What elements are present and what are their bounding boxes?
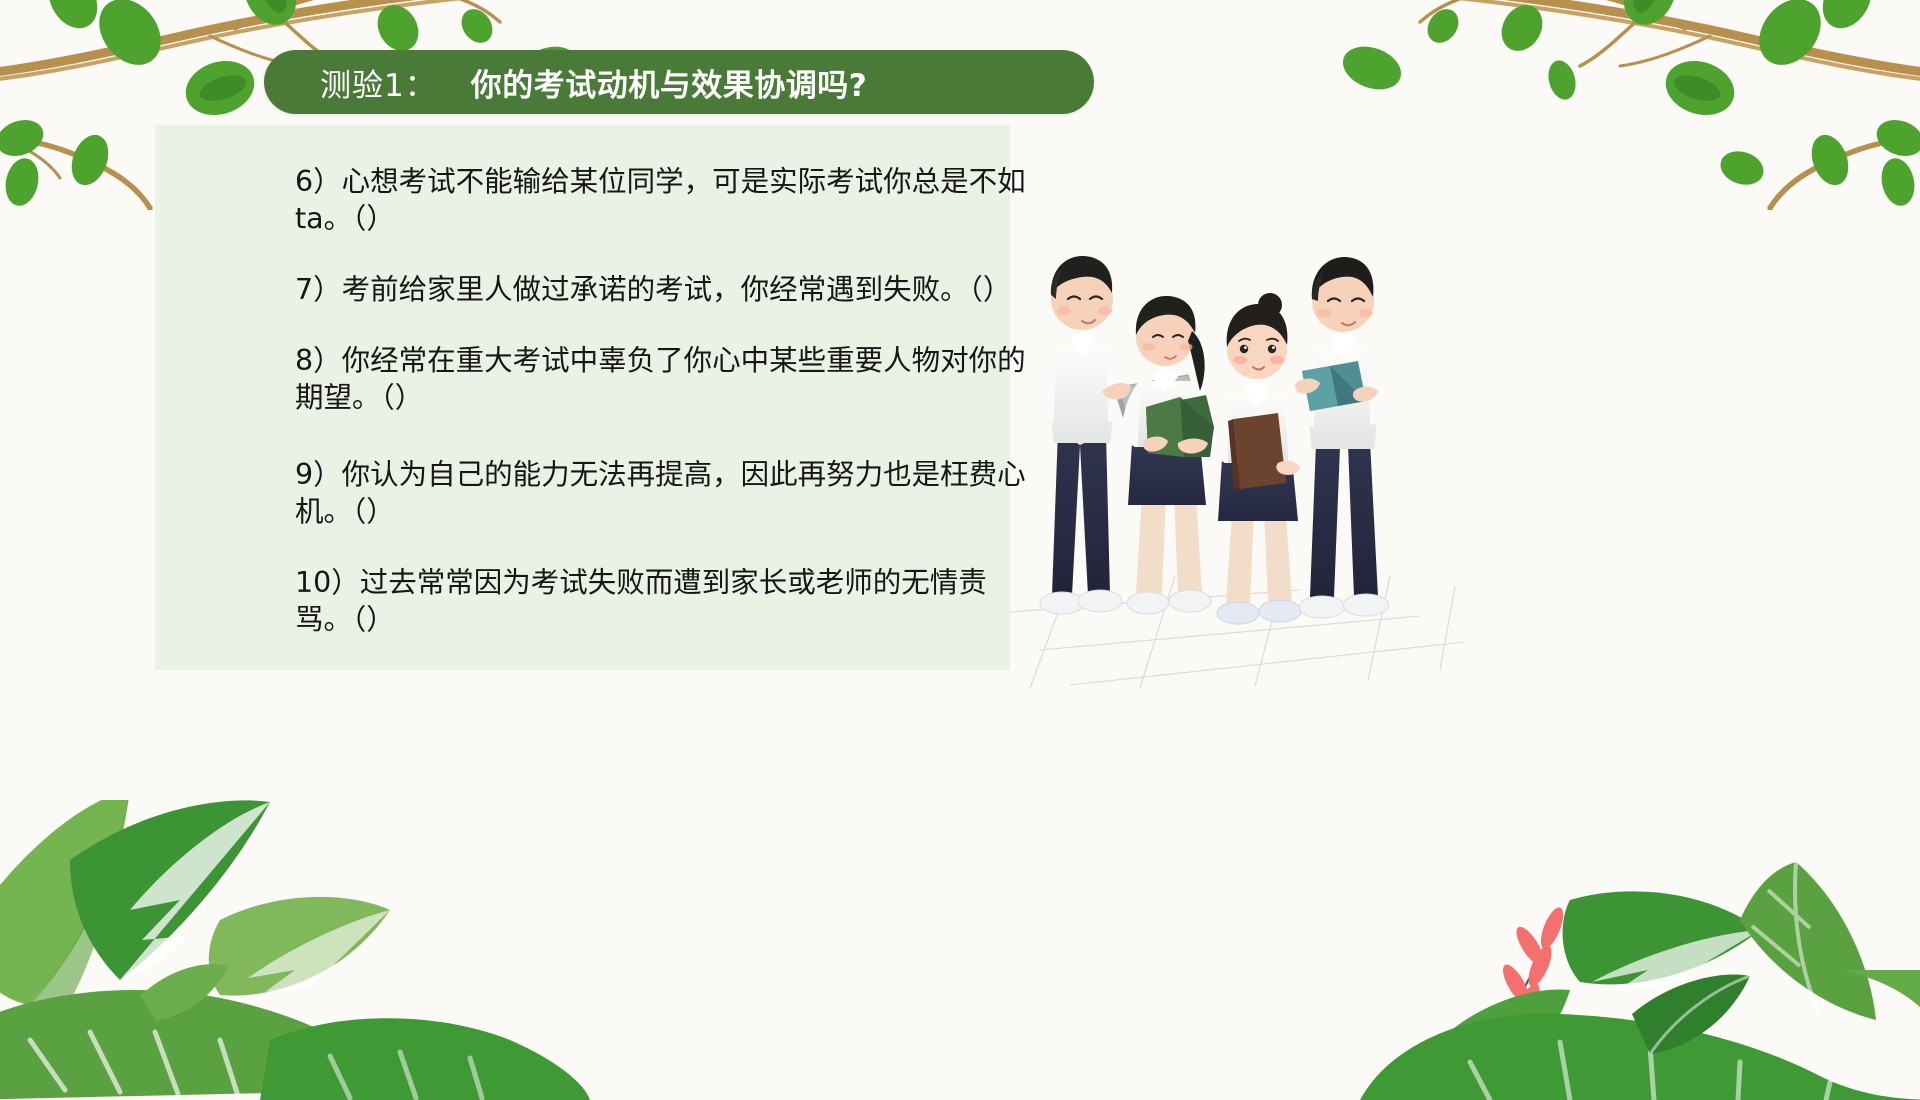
question-item: 6）心想考试不能输给某位同学，可是实际考试你总是不如ta。（） <box>135 163 1030 237</box>
slide-canvas: 测验1： 你的考试动机与效果协调吗? 6）心想考试不能输给某位同学，可是实际考试… <box>0 0 1920 1080</box>
branch-with-leaves-icon <box>1300 0 1920 210</box>
tropical-leaves-with-coral-sprig-icon <box>1240 770 1920 1100</box>
student-figure <box>1122 296 1214 614</box>
student-figure <box>1295 257 1389 618</box>
question-item: 10）过去常常因为考试失败而遭到家长或老师的无情责骂。（） <box>135 564 1030 638</box>
four-students-reading-books-illustration <box>1010 195 1430 680</box>
tropical-leaves-icon <box>0 800 590 1100</box>
question-list: 6）心想考试不能输给某位同学，可是实际考试你总是不如ta。（） 7）考前给家里人… <box>135 163 1030 672</box>
page-title: 你的考试动机与效果协调吗? <box>471 60 867 105</box>
question-panel: 6）心想考试不能输给某位同学，可是实际考试你总是不如ta。（） 7）考前给家里人… <box>155 125 1010 670</box>
test-number-label: 测验1： <box>320 60 437 105</box>
question-item: 9）你认为自己的能力无法再提高，因此再努力也是枉费心机。（） <box>135 456 1030 530</box>
question-item: 8）你经常在重大考试中辜负了你心中某些重要人物对你的期望。（） <box>135 342 1030 416</box>
coral-sprig-icon <box>1491 905 1567 1070</box>
student-figure <box>1212 293 1305 624</box>
question-item: 7）考前给家里人做过承诺的考试，你经常遇到失败。（） <box>135 271 1030 308</box>
title-banner: 测验1： 你的考试动机与效果协调吗? <box>264 50 1094 114</box>
